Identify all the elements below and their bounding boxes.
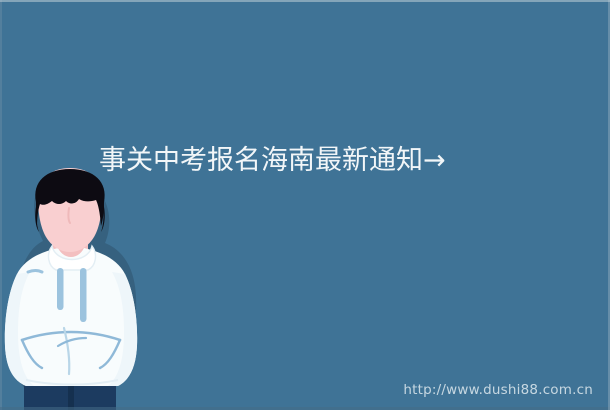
image-canvas: 事关中考报名海南最新通知→ http://www.dushi88.com.cn [0, 0, 610, 410]
headline-text: 事关中考报名海南最新通知→ [99, 143, 559, 179]
boy-illustration [0, 168, 150, 410]
hoodie [5, 246, 137, 386]
watermark-url: http://www.dushi88.com.cn [403, 382, 593, 398]
